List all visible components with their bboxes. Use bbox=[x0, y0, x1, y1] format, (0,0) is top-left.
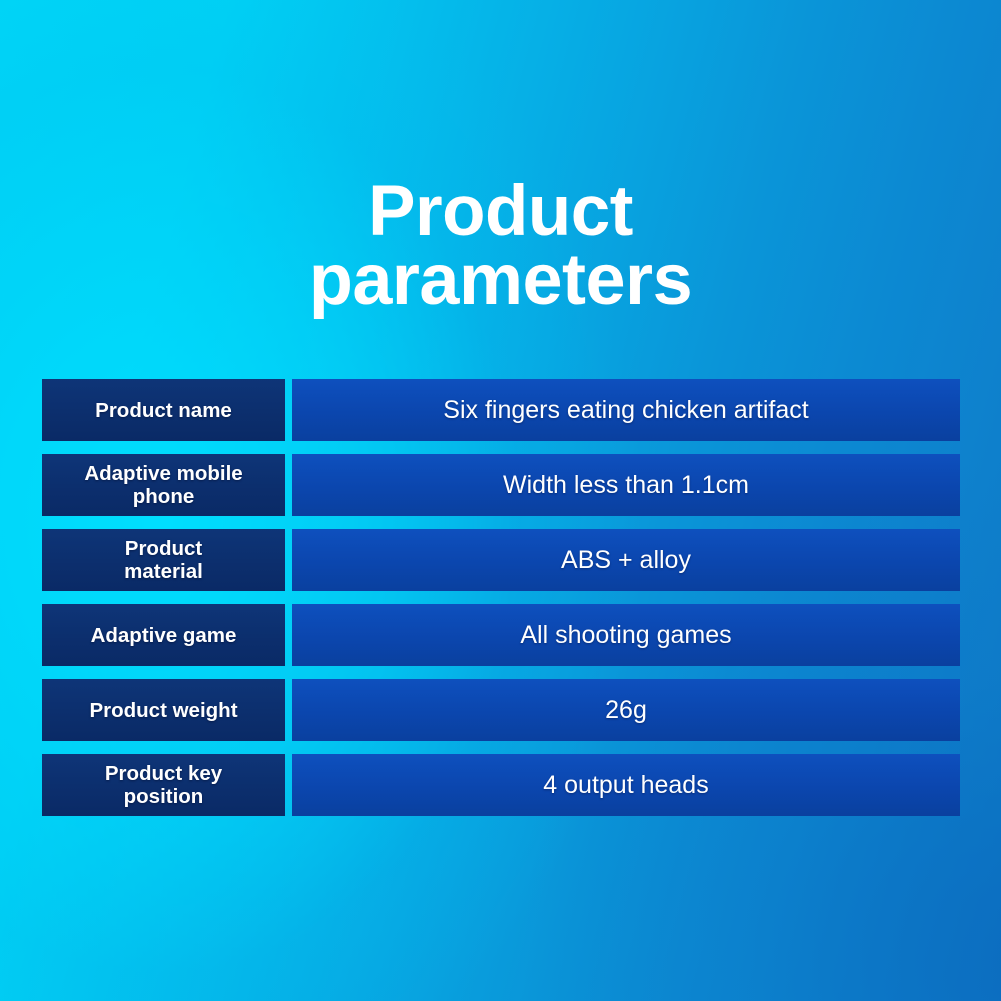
page-title: Product parameters bbox=[0, 178, 1001, 314]
table-row: Product key position 4 output heads bbox=[42, 754, 960, 816]
table-row: Product material ABS + alloy bbox=[42, 529, 960, 591]
spec-value-product-name: Six fingers eating chicken artifact bbox=[292, 379, 960, 441]
spec-value-product-material: ABS + alloy bbox=[292, 529, 960, 591]
product-parameters-page: Product parameters Product name Six fing… bbox=[0, 0, 1001, 1001]
spec-value-adaptive-game: All shooting games bbox=[292, 604, 960, 666]
spec-value-product-weight: 26g bbox=[292, 679, 960, 741]
spec-label-product-material: Product material bbox=[42, 529, 285, 591]
spec-label-product-key-position: Product key position bbox=[42, 754, 285, 816]
spec-label-adaptive-mobile-phone: Adaptive mobile phone bbox=[42, 454, 285, 516]
page-title-line-1: Product bbox=[0, 178, 1001, 246]
spec-value-adaptive-mobile-phone: Width less than 1.1cm bbox=[292, 454, 960, 516]
page-title-line-2: parameters bbox=[0, 246, 1001, 314]
table-row: Product name Six fingers eating chicken … bbox=[42, 379, 960, 441]
table-row: Adaptive mobile phone Width less than 1.… bbox=[42, 454, 960, 516]
spec-label-product-name: Product name bbox=[42, 379, 285, 441]
spec-label-product-weight: Product weight bbox=[42, 679, 285, 741]
table-row: Adaptive game All shooting games bbox=[42, 604, 960, 666]
specification-table: Product name Six fingers eating chicken … bbox=[42, 379, 960, 816]
spec-value-product-key-position: 4 output heads bbox=[292, 754, 960, 816]
table-row: Product weight 26g bbox=[42, 679, 960, 741]
spec-label-adaptive-game: Adaptive game bbox=[42, 604, 285, 666]
